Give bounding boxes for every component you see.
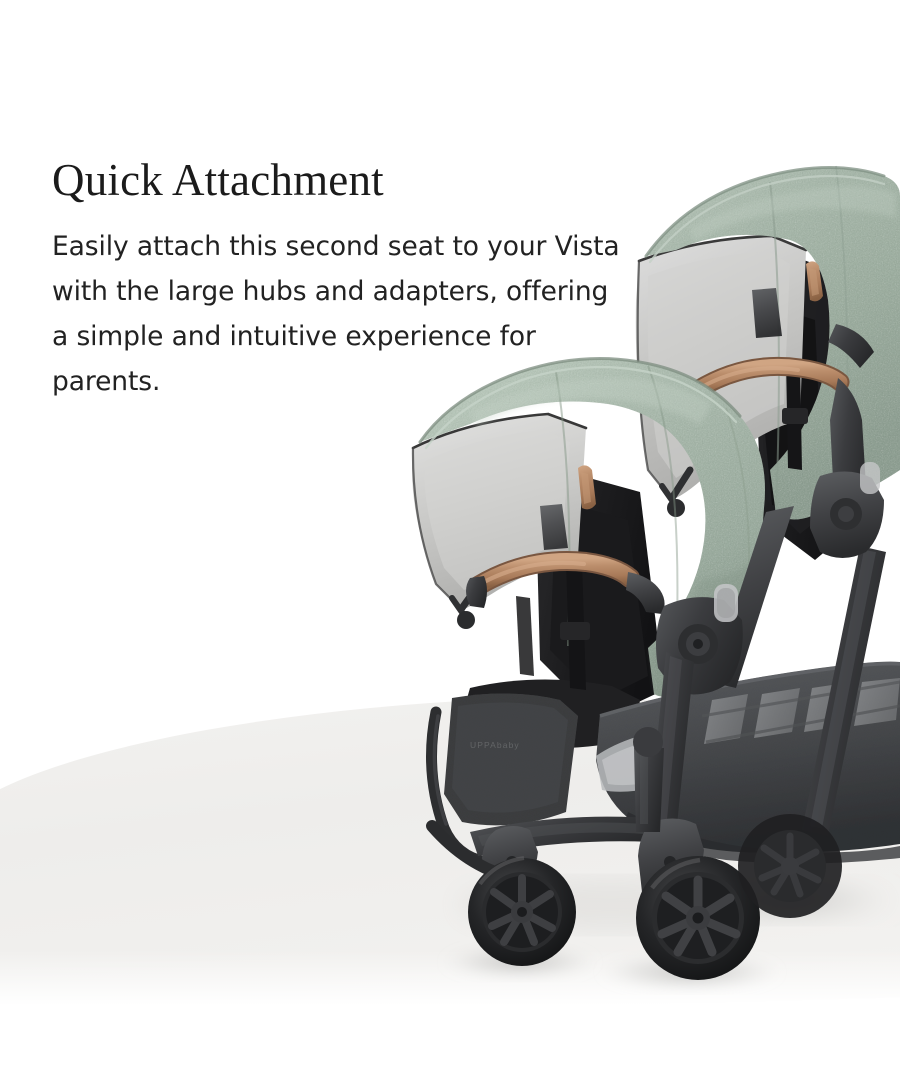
page-title: Quick Attachment (52, 152, 652, 208)
feature-description: Easily attach this second seat to your V… (52, 224, 632, 404)
adapter-hub-rear (810, 462, 884, 558)
rear-wheel-far (738, 814, 842, 918)
brand-mark: UPPAbaby (470, 740, 520, 750)
feature-text-block: Quick Attachment Easily attach this seco… (52, 152, 652, 404)
front-swivel-wheel (468, 858, 576, 966)
product-feature-panel: UPPAbaby (0, 0, 900, 1091)
